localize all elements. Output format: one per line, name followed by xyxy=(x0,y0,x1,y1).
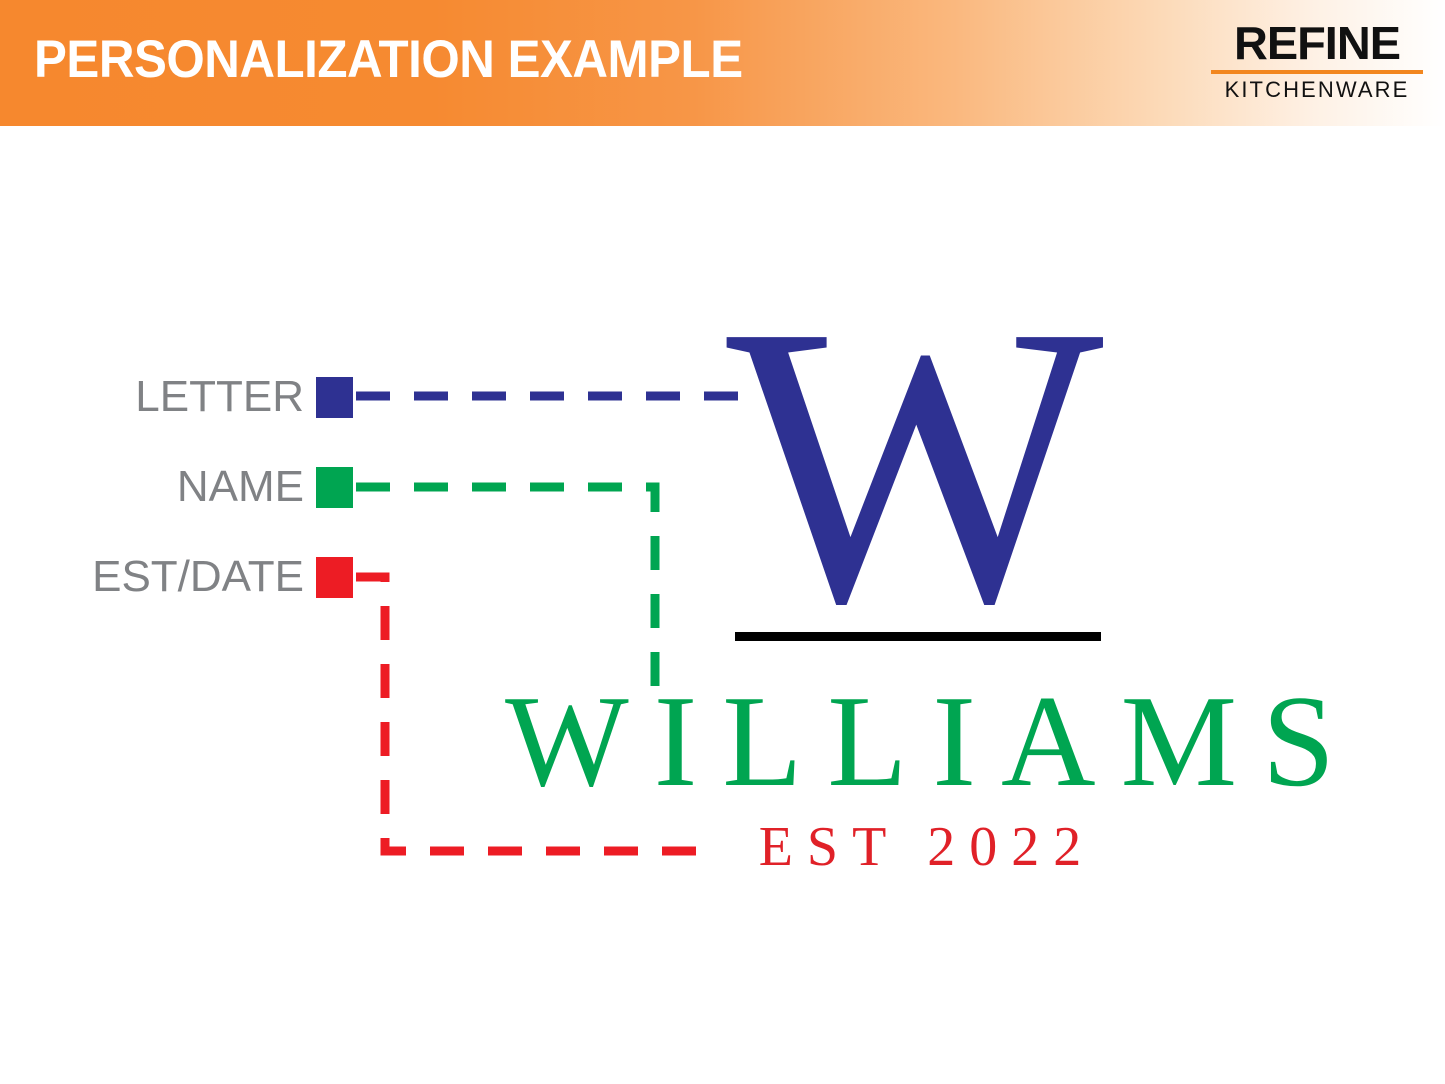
monogram-family-name: WILLIAMS xyxy=(440,672,1400,812)
monogram-established-date: EST 2022 xyxy=(700,812,1140,882)
brand-subtitle: KITCHENWARE xyxy=(1211,77,1423,102)
monogram-divider-rule xyxy=(735,632,1101,641)
legend-label-letter: LETTER xyxy=(135,374,304,420)
legend-label-est-date: EST/DATE xyxy=(92,554,304,600)
legend-item-letter: LETTER xyxy=(0,374,353,420)
page-title: PERSONALIZATION EXAMPLE xyxy=(34,28,743,92)
legend-label-name: NAME xyxy=(177,464,304,510)
monogram-initial: W xyxy=(700,300,1130,630)
brand-logo: REFINE KITCHENWARE xyxy=(1211,20,1423,102)
brand-underline-rule xyxy=(1211,70,1423,74)
name-color-swatch xyxy=(316,467,353,508)
legend-item-est-date: EST/DATE xyxy=(0,554,353,600)
legend-item-name: NAME xyxy=(0,464,353,510)
est-date-color-swatch xyxy=(316,557,353,598)
letter-color-swatch xyxy=(316,377,353,418)
brand-name: REFINE xyxy=(1209,20,1425,66)
